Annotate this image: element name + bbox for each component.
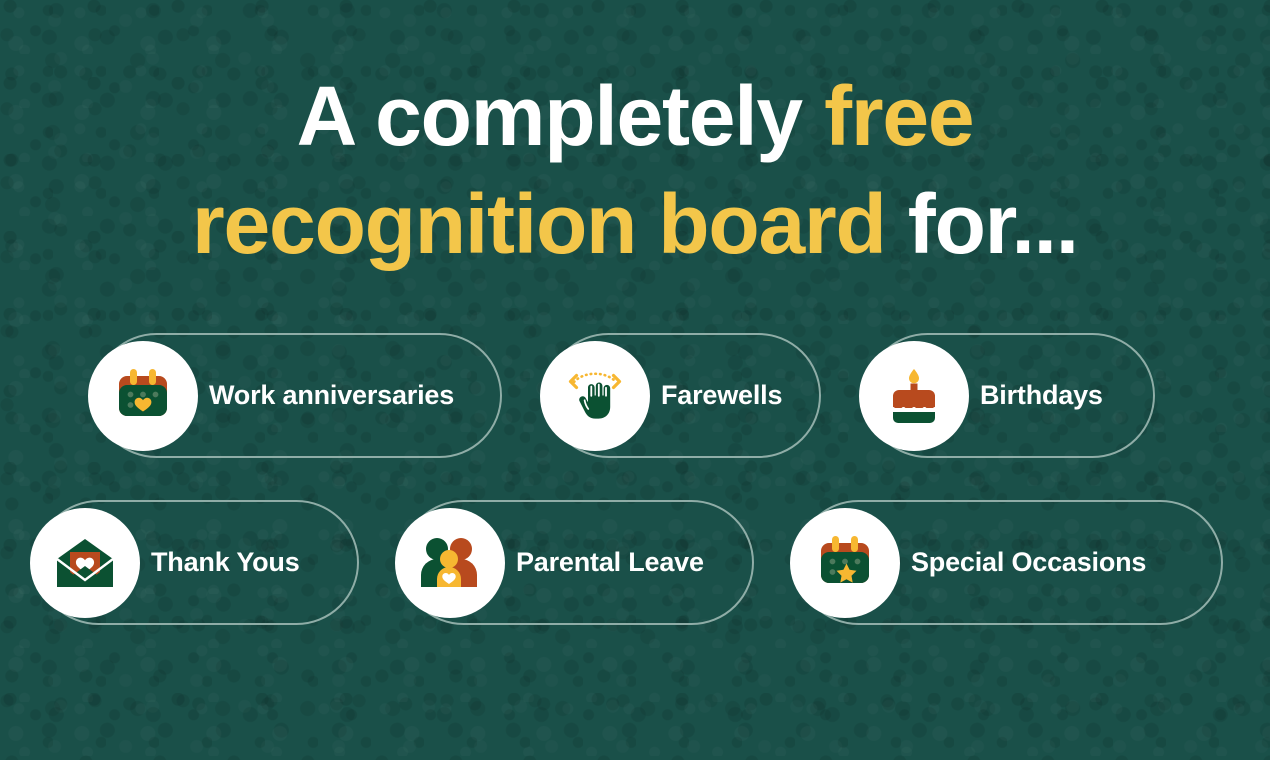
recognition-category-row-2: Thank Yous Parental Leave bbox=[36, 500, 1223, 625]
envelope-heart-icon bbox=[30, 508, 140, 618]
birthday-cake-icon bbox=[859, 341, 969, 451]
calendar-star-icon bbox=[790, 508, 900, 618]
recognition-category-row-1: Work anniversaries Farewells bbox=[94, 333, 1155, 458]
page-headline: A completely free recognition board for.… bbox=[0, 62, 1270, 278]
category-label: Thank Yous bbox=[151, 547, 300, 578]
category-label: Birthdays bbox=[980, 380, 1103, 411]
family-icon bbox=[395, 508, 505, 618]
calendar-heart-icon bbox=[88, 341, 198, 451]
category-card-special-occasions[interactable]: Special Occasions bbox=[796, 500, 1223, 625]
category-card-thank-yous[interactable]: Thank Yous bbox=[36, 500, 359, 625]
category-card-work-anniversaries[interactable]: Work anniversaries bbox=[94, 333, 502, 458]
waving-hand-icon bbox=[540, 341, 650, 451]
category-label: Farewells bbox=[661, 380, 782, 411]
headline-text-accent-2: recognition board bbox=[192, 177, 886, 271]
category-label: Parental Leave bbox=[516, 547, 704, 578]
category-label: Special Occasions bbox=[911, 547, 1146, 578]
category-card-farewells[interactable]: Farewells bbox=[546, 333, 821, 458]
category-card-birthdays[interactable]: Birthdays bbox=[865, 333, 1155, 458]
headline-text-white-2: for... bbox=[886, 177, 1078, 271]
headline-text-accent-1: free bbox=[824, 69, 973, 163]
headline-line-1: A completely free bbox=[297, 69, 974, 163]
headline-line-2: recognition board for... bbox=[192, 177, 1078, 271]
headline-text-white-1: A completely bbox=[297, 69, 824, 163]
category-label: Work anniversaries bbox=[209, 380, 454, 411]
category-card-parental-leave[interactable]: Parental Leave bbox=[401, 500, 754, 625]
